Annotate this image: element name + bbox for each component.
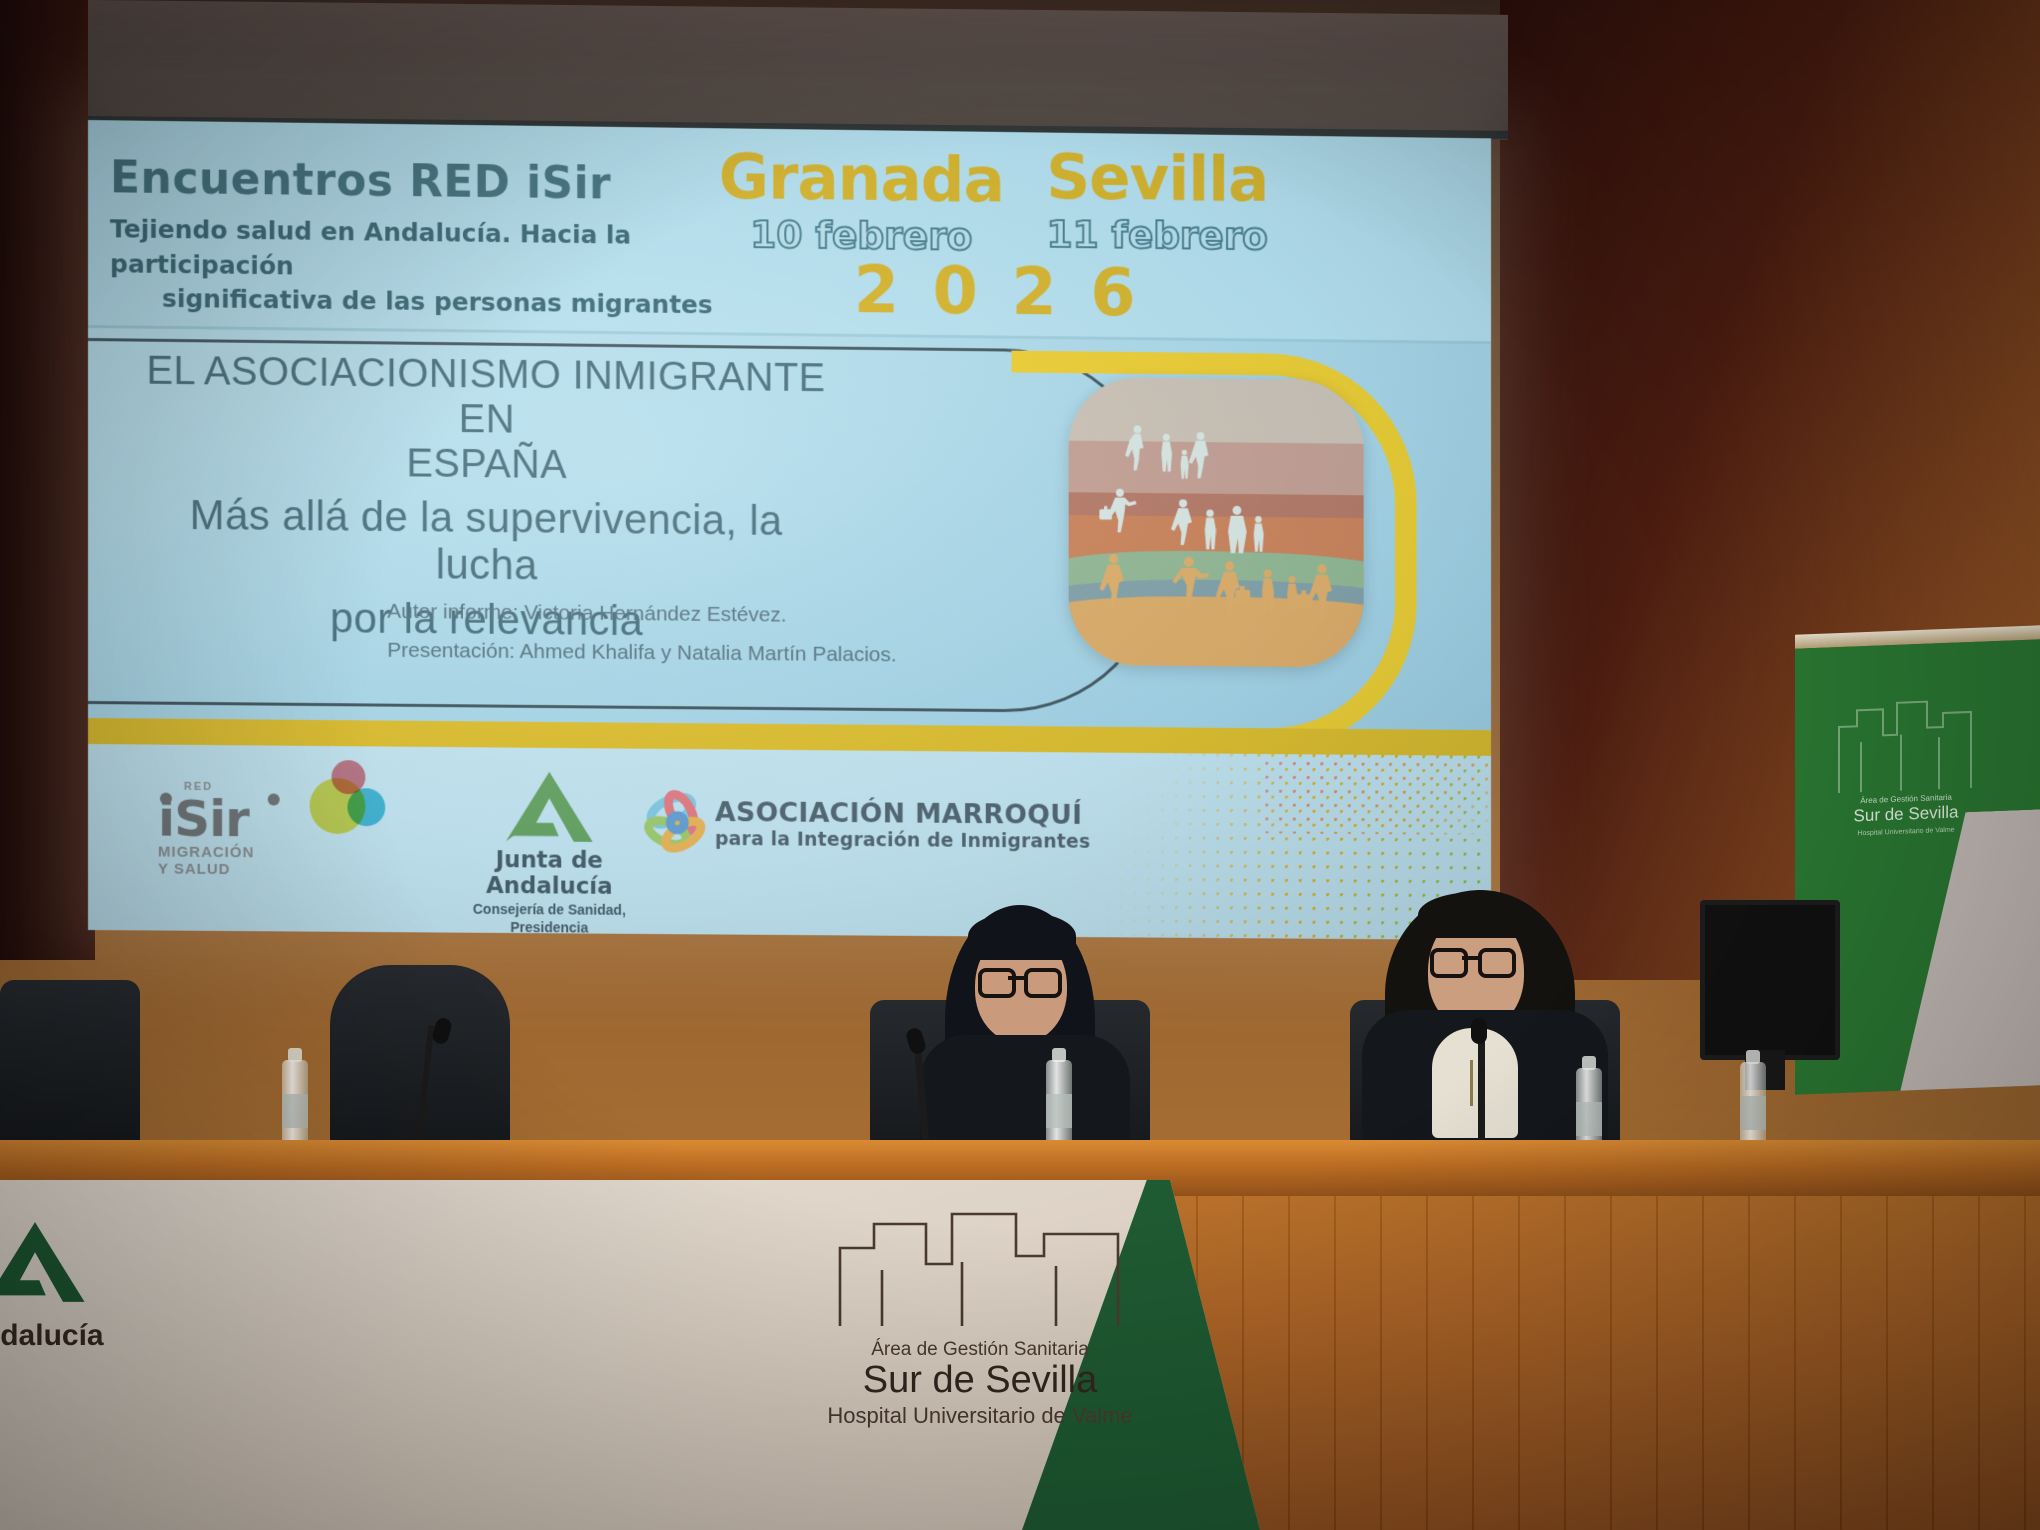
rollup-line2: Sur de Sevilla	[1831, 802, 1981, 828]
migration-illustration	[1069, 377, 1364, 668]
projection-screen-slide: Encuentros RED iSir Tejiendo salud en An…	[88, 120, 1491, 940]
water-bottle-1	[282, 1060, 308, 1152]
junta-name: Junta de Andalucía	[435, 847, 663, 901]
event-subtitle: Tejiendo salud en Andalucía. Hacia la pa…	[110, 212, 806, 324]
junta-department-line1: Consejería de Sanidad, Presidencia	[435, 901, 663, 938]
panelist-right-shirt	[1432, 1028, 1518, 1138]
junta-a-icon	[502, 769, 597, 844]
slide-body: EL ASOCIACIONISMO INMIGRANTE EN ESPAÑA M…	[88, 328, 1491, 730]
presentation-title-line3: Más allá de la supervivencia, la lucha	[138, 491, 834, 592]
illustration-figures	[1069, 377, 1364, 668]
presentation-title-line2: ESPAÑA	[138, 438, 834, 490]
panelist-right-necklace	[1470, 1060, 1473, 1106]
hospital-line1: Área de Gestión Sanitaria	[770, 1339, 1190, 1361]
slide-footer: RED iSir MIGRACIÓN Y SALUD	[88, 718, 1491, 940]
water-bottle-2	[1046, 1060, 1072, 1152]
monitor-screen	[1700, 900, 1840, 1060]
event-subtitle-line1: Tejiendo salud en Andalucía. Hacia la pa…	[110, 214, 631, 280]
isir-dot-right	[268, 793, 280, 805]
event-year: 2026	[725, 256, 1297, 328]
rollup-line3: Hospital Universitario de Valme	[1831, 826, 1981, 839]
panelist-left-glasses	[978, 968, 1064, 992]
logo-junta-de-andalucia: Junta de Andalucía Consejería de Sanidad…	[435, 769, 663, 940]
wall-left-shadow	[0, 0, 95, 960]
presenters: Presentación: Ahmed Khalifa y Natalia Ma…	[387, 632, 1021, 676]
marroqui-line1: ASOCIACIÓN MARROQUÍ	[715, 797, 1110, 831]
podium-hospital-skyline-icon	[830, 1208, 1130, 1328]
chair-empty-left	[0, 980, 140, 1160]
logo-red-isir: RED iSir MIGRACIÓN Y SALUD	[158, 797, 397, 880]
panelist-right-fringe	[1418, 892, 1534, 938]
hospital-line2: Sur de Sevilla	[770, 1361, 1190, 1401]
logo-asociacion-marroqui: ASOCIACIÓN MARROQUÍ para la Integración …	[715, 797, 1110, 853]
hospital-line3: Hospital Universitario de Valme	[770, 1403, 1190, 1429]
marroqui-line2: para la Integración de Inmigrantes	[715, 828, 1110, 853]
podium-junta-logo: de Andalucía	[0, 1220, 204, 1353]
presentation-credits: Autor informe: Victoria Hernández Estéve…	[387, 593, 1021, 676]
isir-red-label: RED	[184, 781, 213, 793]
rollup-folded-panel: J co A	[1890, 808, 2040, 1095]
city-granada: Granada 10 febrero	[713, 146, 1010, 260]
event-title: Encuentros RED iSir	[110, 152, 611, 209]
city-sevilla: Sevilla 11 febrero	[1010, 146, 1305, 260]
conference-hall-photo: Encuentros RED iSir Tejiendo salud en An…	[0, 0, 2040, 1530]
podium-front-panel: de Andalucía Área de Gestión Sanitaria S…	[0, 1180, 1260, 1530]
report-author: Autor informe: Victoria Hernández Estéve…	[387, 593, 1021, 638]
city-granada-name: Granada	[713, 146, 1010, 211]
isir-blob-mark	[304, 760, 390, 847]
podium-hospital-logo: Área de Gestión Sanitaria Sur de Sevilla…	[770, 1208, 1190, 1429]
city-sevilla-date: 11 febrero	[1010, 212, 1305, 260]
footer-logo-row: RED iSir MIGRACIÓN Y SALUD	[88, 752, 1090, 929]
podium-junta-a-icon	[0, 1220, 90, 1304]
podium-junta-text: de Andalucía	[0, 1319, 204, 1353]
presentation-title-line1: EL ASOCIACIONISMO INMIGRANTE EN	[138, 349, 834, 446]
hospital-skyline-icon	[1831, 692, 1981, 798]
panelist-right-microphone-head	[1471, 1018, 1487, 1044]
marroqui-knot-icon	[642, 789, 715, 857]
isir-dot-left	[160, 793, 172, 805]
isir-blob-yellow	[310, 778, 366, 834]
panelist-left-fringe	[968, 912, 1076, 960]
city-sevilla-name: Sevilla	[1010, 146, 1305, 211]
panelist-right-glasses	[1430, 948, 1520, 972]
isir-tagline-line2: Y SALUD	[158, 861, 397, 880]
isir-tagline: MIGRACIÓN Y SALUD	[158, 844, 397, 880]
